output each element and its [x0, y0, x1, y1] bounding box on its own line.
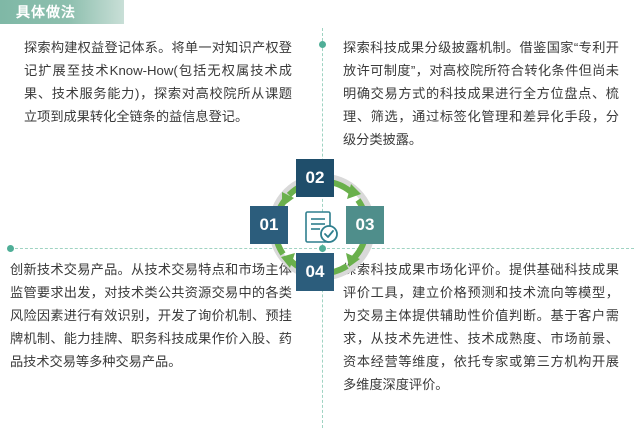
step-02-text: 探索构建权益登记体系。将单一对知识产权登记扩展至技术Know-How(包括无权属…	[24, 36, 292, 128]
cycle-diagram: 01 02 03 04	[243, 150, 401, 300]
step-number-03: 03	[346, 206, 384, 244]
divider-dot-left	[7, 245, 14, 252]
step-number-02: 02	[296, 159, 334, 197]
document-check-icon	[302, 210, 342, 244]
step-number-04: 04	[296, 253, 334, 291]
page-title: 具体做法	[16, 2, 76, 22]
divider-dot-top	[319, 41, 326, 48]
step-number-01: 01	[250, 206, 288, 244]
section-title-banner: 具体做法	[0, 0, 124, 24]
step-03-text: 探索科技成果分级披露机制。借鉴国家“专利开放许可制度”，对高校院所符合转化条件但…	[343, 36, 619, 151]
